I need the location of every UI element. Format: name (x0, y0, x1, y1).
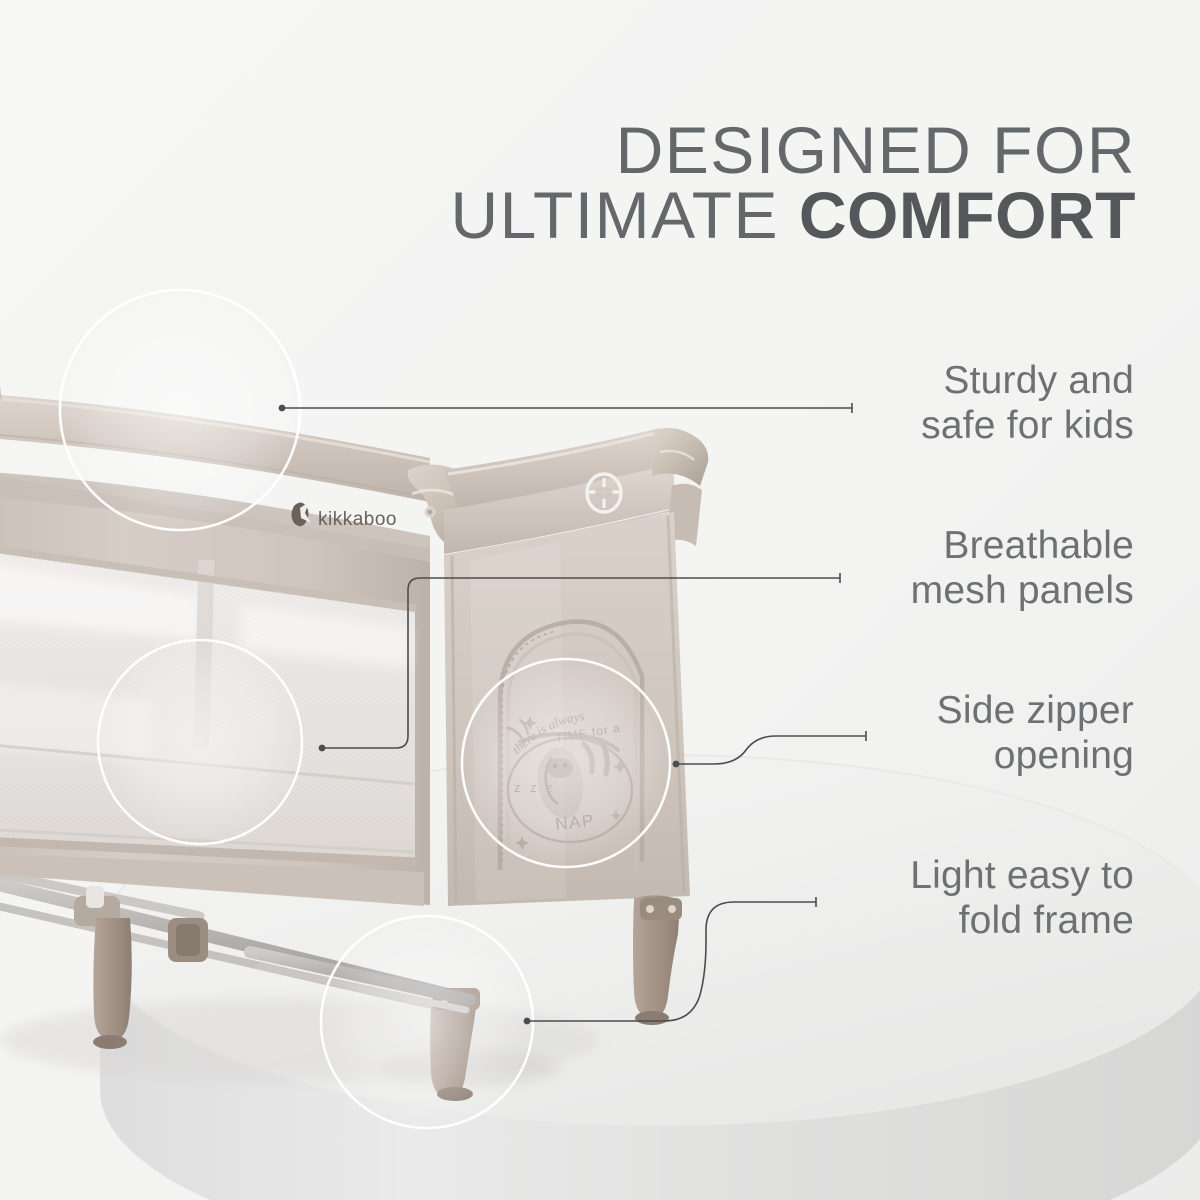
callout-label-zipper: Side zipper opening (937, 688, 1134, 778)
highlight-circle-mesh (98, 640, 302, 844)
highlight-circle-leg (321, 916, 533, 1128)
callout-mesh-line-1: Breathable (911, 523, 1134, 568)
callout-sturdy-line-2: safe for kids (921, 403, 1134, 448)
promo-image-canvas: there is always TIME for a NAP z z z (0, 0, 1200, 1200)
headline-ultimate: ULTIMATE (450, 178, 779, 252)
callout-label-mesh: Breathable mesh panels (911, 523, 1134, 613)
headline-comfort: COMFORT (799, 178, 1136, 252)
callout-fold-line-1: Light easy to (910, 853, 1134, 898)
callout-zipper-line-2: opening (937, 733, 1134, 778)
callout-sturdy-line-1: Sturdy and (921, 358, 1134, 403)
callout-fold-line-2: fold frame (910, 898, 1134, 943)
callout-zipper-line-1: Side zipper (937, 688, 1134, 733)
kikkaboo-logo-text: kikkaboo (318, 509, 397, 530)
page-title: DESIGNED FOR ULTIMATE COMFORT (450, 118, 1136, 247)
leg-rear-left (93, 918, 132, 1049)
callout-label-fold-frame: Light easy to fold frame (910, 853, 1134, 943)
highlight-circle-rail (60, 290, 300, 530)
brand-emblem-icon (587, 474, 621, 512)
headline-line-2: ULTIMATE COMFORT (450, 183, 1136, 248)
callout-mesh-line-2: mesh panels (911, 568, 1134, 613)
highlight-circle-zipper (462, 659, 670, 867)
callout-label-sturdy: Sturdy and safe for kids (921, 358, 1134, 448)
headline-line-1: DESIGNED FOR (450, 118, 1136, 183)
